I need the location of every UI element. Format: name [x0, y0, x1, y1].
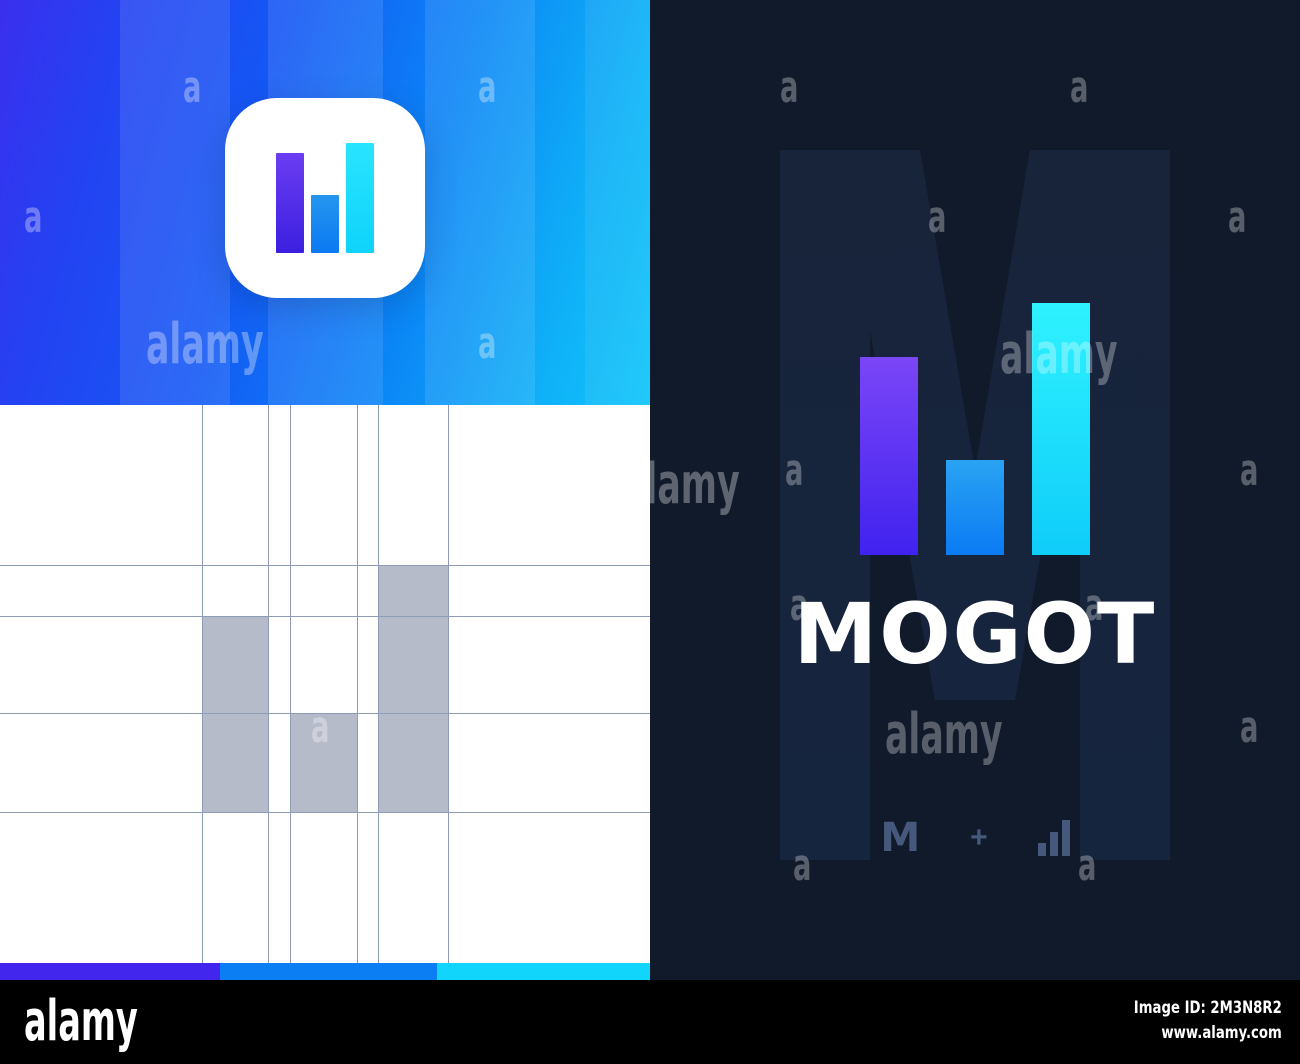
- grid-line-horizontal: [0, 812, 650, 813]
- grid-cell: [290, 713, 357, 812]
- left-panel: [0, 0, 650, 980]
- brand-bar-blue: [946, 460, 1004, 555]
- app-icon-bar-blue: [311, 195, 339, 253]
- logo-formula-row: M +: [650, 818, 1300, 858]
- logo-construction-grid: [0, 405, 650, 963]
- letter-m-icon: M: [880, 818, 920, 858]
- plus-icon: +: [970, 823, 988, 853]
- artwork-stage: MOGOT M + aaaalamyaaaalamyaaaaaaalamyaaa…: [0, 0, 1300, 980]
- brand-mark-bar-chart: [650, 290, 1300, 555]
- grid-line-horizontal: [0, 565, 650, 566]
- brand-bar-cyan: [1032, 303, 1090, 555]
- grid-line-vertical: [202, 405, 203, 963]
- grid-line-horizontal: [0, 616, 650, 617]
- grid-line-horizontal: [0, 713, 650, 714]
- grid-cell: [202, 616, 268, 713]
- bar-chart-icon-bar: [1038, 843, 1046, 856]
- brand-color-swatches: [0, 963, 650, 980]
- app-icon: [225, 98, 425, 298]
- website-link[interactable]: www.alamy.com: [1134, 1021, 1282, 1046]
- grid-line-vertical: [378, 405, 379, 963]
- grid-line-vertical: [357, 405, 358, 963]
- grid-cell: [378, 616, 448, 713]
- image-id-label: Image ID: 2M3N8R2: [1134, 996, 1282, 1021]
- app-icon-bar-purple: [276, 153, 304, 253]
- bar-chart-icon-bar: [1062, 820, 1070, 856]
- swatch-blue: [220, 963, 437, 980]
- hero-stripe: [585, 0, 650, 405]
- gradient-hero: [0, 0, 650, 405]
- grid-line-vertical: [448, 405, 449, 963]
- app-icon-bar-chart: [276, 143, 374, 253]
- swatch-violet: [0, 963, 220, 980]
- grid-cell: [378, 713, 448, 812]
- bar-chart-icon: [1038, 820, 1070, 856]
- swatch-cyan: [437, 963, 650, 980]
- grid-line-vertical: [268, 405, 269, 963]
- grid-cell: [378, 565, 448, 616]
- alamy-footer: alamy Image ID: 2M3N8R2 www.alamy.com: [0, 980, 1300, 1064]
- bar-chart-icon-bar: [1050, 832, 1058, 856]
- app-icon-bar-cyan: [346, 143, 374, 253]
- grid-line-vertical: [290, 405, 291, 963]
- brand-wordmark: MOGOT: [650, 592, 1300, 676]
- alamy-logo: alamy: [24, 994, 138, 1050]
- footer-metadata: Image ID: 2M3N8R2 www.alamy.com: [1134, 996, 1282, 1045]
- brand-bar-purple: [860, 357, 918, 555]
- right-panel: MOGOT M +: [650, 0, 1300, 980]
- hero-stripe: [425, 0, 535, 405]
- hero-stripe: [120, 0, 230, 405]
- grid-cell: [202, 713, 268, 812]
